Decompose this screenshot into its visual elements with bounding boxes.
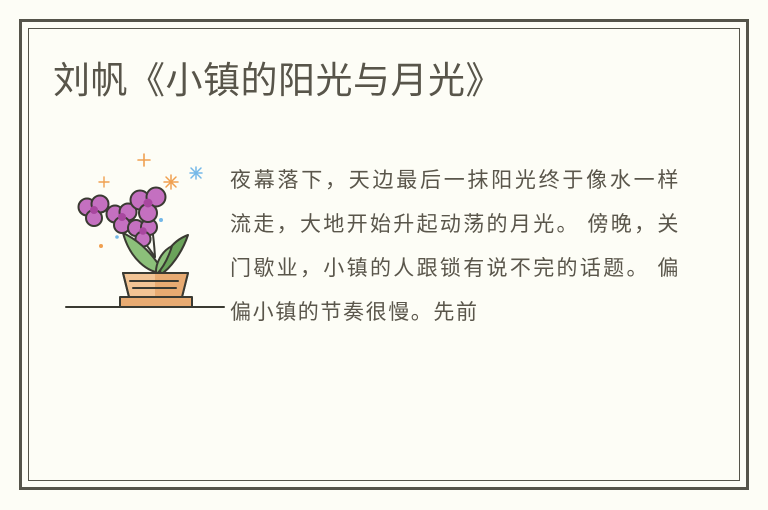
article-card-page: 刘帆《小镇的阳光与月光》 <box>0 0 768 510</box>
sparkle-burst-small-icon <box>99 177 109 187</box>
sparkle-dot-blue-icon <box>115 235 119 239</box>
sparkle-burst-orange-icon <box>164 175 178 189</box>
sparkle-plus-icon <box>138 154 150 166</box>
potted-orchid-illustration <box>60 145 230 310</box>
flower-pot <box>120 273 192 307</box>
article-body-text: 夜幕落下，天边最后一抹阳光终于像水一样流走，大地开始升起动荡的月光。 傍晚，关门… <box>230 158 680 334</box>
sparkle-dot-icon <box>99 244 103 248</box>
orchid-flower-1 <box>79 196 109 227</box>
sparkle-burst-blue-icon <box>190 167 202 179</box>
sparkle-dot-blue-2-icon <box>159 218 163 222</box>
content-area: 夜幕落下，天边最后一抹阳光终于像水一样流走，大地开始升起动荡的月光。 傍晚，关门… <box>40 140 730 440</box>
page-title: 刘帆《小镇的阳光与月光》 <box>53 57 503 105</box>
